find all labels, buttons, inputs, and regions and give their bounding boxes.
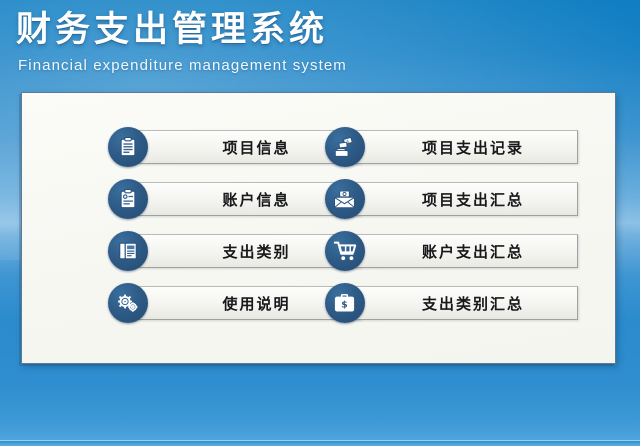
menu-button-frame[interactable]: 项目支出汇总 (351, 182, 578, 216)
menu-item-instructions[interactable]: 使用说明 (108, 283, 325, 323)
menu-item-account-expense-summary[interactable]: 账户支出汇总 (325, 231, 542, 271)
menu-item-project-expense-record[interactable]: $ 项目支出记录 (325, 127, 542, 167)
menu-item-expense-category[interactable]: 支出类别 (108, 231, 325, 271)
menu-item-label: 支出类别 (222, 241, 290, 262)
hand-money-icon: $ (325, 127, 365, 167)
clipboard-icon (108, 127, 148, 167)
bottom-accent-strip (0, 440, 640, 446)
menu-column-right: $ 项目支出记录 (325, 127, 542, 337)
money-envelope-icon (325, 179, 365, 219)
main-panel: 项目信息 账户信息 (21, 92, 616, 364)
menu-item-label: 账户支出汇总 (422, 241, 524, 262)
menu-item-project-expense-summary[interactable]: 项目支出汇总 (325, 179, 542, 219)
menu-button-frame[interactable]: 项目支出记录 (351, 130, 578, 164)
page-subtitle: Financial expenditure management system (18, 57, 616, 74)
menu-item-category-expense-summary[interactable]: $ 支出类别汇总 (325, 283, 542, 323)
menu-item-label: 账户信息 (222, 189, 290, 210)
clipboard-account-icon (108, 179, 148, 219)
svg-text:$: $ (341, 299, 347, 310)
page-title: 财务支出管理系统 (16, 8, 616, 52)
menu-button-frame[interactable]: 支出类别汇总 (351, 286, 578, 320)
shopping-cart-icon (325, 231, 365, 271)
menu-item-project-info[interactable]: 项目信息 (108, 127, 325, 167)
menu-item-account-info[interactable]: 账户信息 (108, 179, 325, 219)
briefcase-dollar-icon: $ (325, 283, 365, 323)
menu-item-label: 项目支出汇总 (422, 189, 524, 210)
menu-item-label: 使用说明 (222, 293, 290, 314)
header: 财务支出管理系统 Financial expenditure managemen… (16, 8, 616, 74)
menu-item-label: 支出类别汇总 (422, 293, 524, 314)
app-root: 财务支出管理系统 Financial expenditure managemen… (0, 0, 640, 446)
menu-item-label: 项目支出记录 (422, 137, 524, 158)
menu-item-label: 项目信息 (222, 137, 290, 158)
menu-button-frame[interactable]: 账户支出汇总 (351, 234, 578, 268)
menu-column-left: 项目信息 账户信息 (108, 127, 325, 337)
ledger-book-icon (108, 231, 148, 271)
gears-icon (108, 283, 148, 323)
